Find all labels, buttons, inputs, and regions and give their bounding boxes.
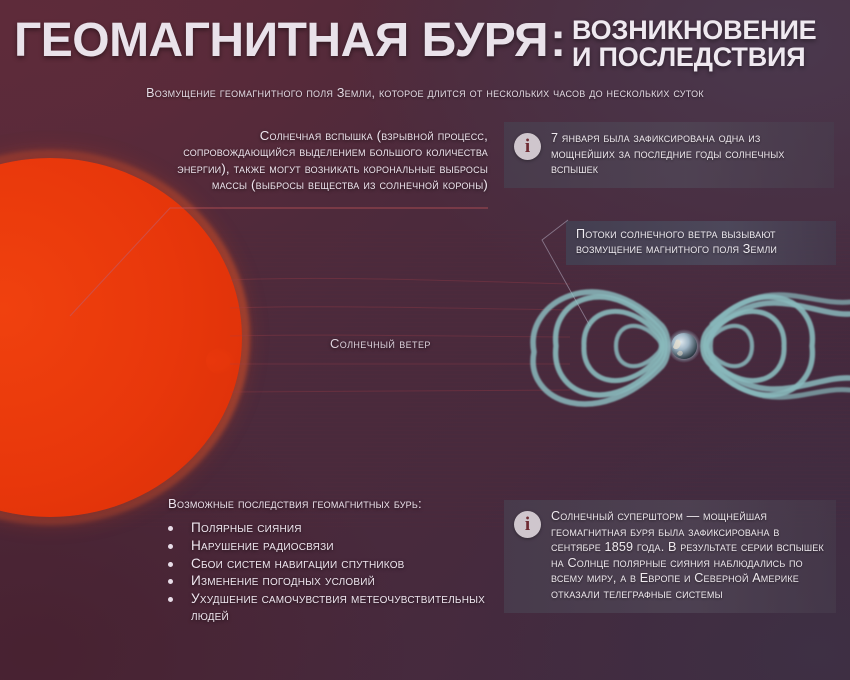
- header: ГЕОМАГНИТНАЯ БУРЯ : ВОЗНИКНОВЕНИЕ И ПОСЛ…: [0, 0, 850, 112]
- list-item-label: Сбои систем навигации спутников: [191, 556, 498, 573]
- sun-disk: [0, 158, 242, 517]
- title-main: ГЕОМАГНИТНАЯ БУРЯ: [14, 16, 548, 66]
- list-item: Изменение погодных условий: [168, 573, 498, 590]
- list-item-label: Полярные сияния: [191, 520, 498, 537]
- solar-wind-label: Солнечный ветер: [330, 336, 431, 351]
- info-box-flare-text: 7 января была зафиксирована одна из мощн…: [551, 131, 822, 178]
- bullet-icon: [168, 526, 173, 531]
- title-colon: :: [550, 16, 566, 66]
- list-item-label: Изменение погодных условий: [191, 573, 498, 590]
- list-item-label: Нарушение радиосвязи: [191, 538, 498, 555]
- page-title: ГЕОМАГНИТНАЯ БУРЯ : ВОЗНИКНОВЕНИЕ И ПОСЛ…: [14, 16, 838, 71]
- bullet-icon: [168, 562, 173, 567]
- magnetosphere-diagram: [520, 258, 850, 433]
- info-icon: i: [514, 511, 541, 538]
- sun-illustration: [0, 150, 250, 525]
- consequences-list: Возможные последствия геомагнитных бурь:…: [168, 496, 498, 626]
- title-sub-line-1: ВОЗНИКНОВЕНИЕ: [572, 17, 816, 44]
- list-item: Ухудшение самочувствия метеочувствительн…: [168, 591, 498, 625]
- list-item: Нарушение радиосвязи: [168, 538, 498, 555]
- callout-solar-wind-text: Потоки солнечного ветра вызывают возмуще…: [576, 227, 777, 256]
- info-box-superstorm: i Солнечный супершторм — мощнейшая геома…: [504, 500, 836, 613]
- solar-flare-description: Солнечная вспышка (взрывной процесс, соп…: [148, 128, 488, 194]
- info-box-superstorm-text: Солнечный супершторм — мощнейшая геомагн…: [551, 509, 824, 603]
- title-sub-line-2: И ПОСЛЕДСТВИЯ: [572, 44, 805, 71]
- bullet-icon: [168, 579, 173, 584]
- bullet-icon: [168, 544, 173, 549]
- page-subtitle: Возмущение геомагнитного поля Земли, кот…: [0, 86, 850, 100]
- list-item: Полярные сияния: [168, 520, 498, 537]
- title-subheading-block: ВОЗНИКНОВЕНИЕ И ПОСЛЕДСТВИЯ: [572, 17, 816, 71]
- list-item: Сбои систем навигации спутников: [168, 556, 498, 573]
- info-box-flare: i 7 января была зафиксирована одна из мо…: [504, 122, 834, 188]
- consequences-title: Возможные последствия геомагнитных бурь:: [168, 496, 498, 511]
- infographic-canvas: ГЕОМАГНИТНАЯ БУРЯ : ВОЗНИКНОВЕНИЕ И ПОСЛ…: [0, 0, 850, 680]
- sun-prominence: [206, 348, 234, 374]
- info-icon: i: [514, 133, 541, 160]
- bullet-icon: [168, 597, 173, 602]
- list-item-label: Ухудшение самочувствия метеочувствительн…: [191, 591, 498, 625]
